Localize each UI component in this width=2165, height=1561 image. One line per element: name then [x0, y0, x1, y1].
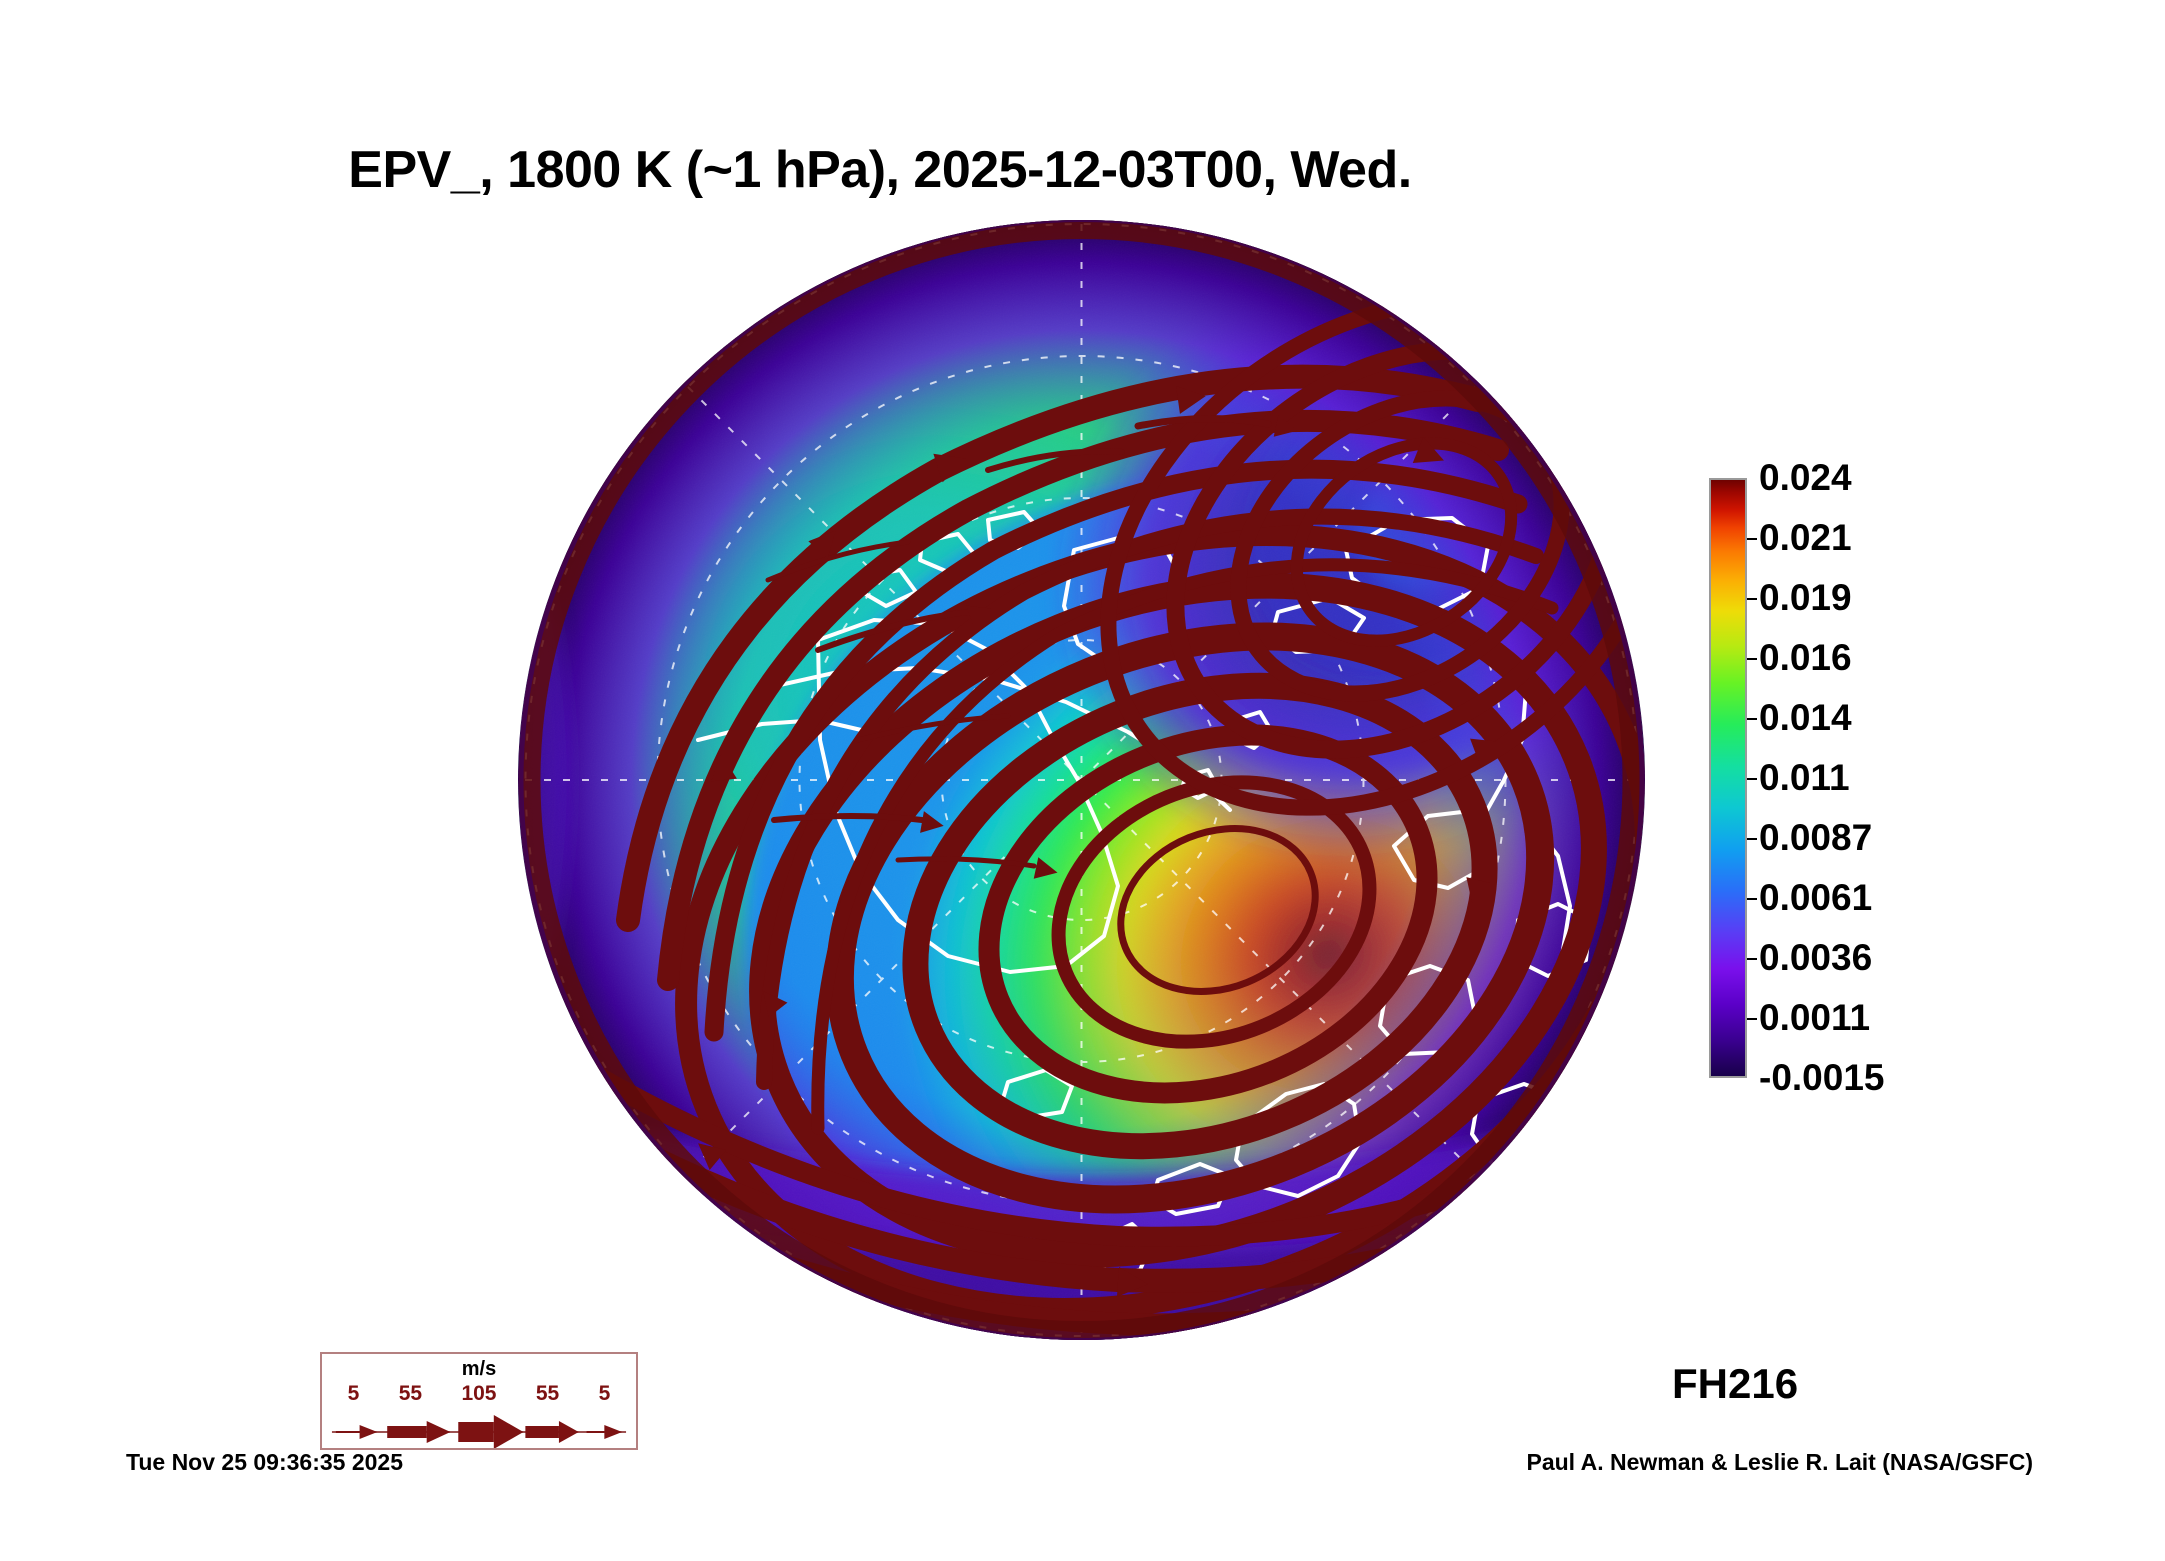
wind-legend-value: 105 — [461, 1382, 496, 1406]
colorbar-tick — [1747, 1018, 1757, 1020]
colorbar-tick-label: 0.014 — [1759, 697, 1852, 739]
wind-legend-value: 5 — [599, 1382, 611, 1406]
forecast-hour-label: FH216 — [1672, 1360, 1798, 1408]
wind-legend-value: 5 — [348, 1382, 360, 1406]
colorbar-tick — [1747, 958, 1757, 960]
colorbar-tick-label: 0.016 — [1759, 637, 1852, 679]
colorbar-tick — [1747, 718, 1757, 720]
wind-arrow-svg — [328, 1412, 630, 1448]
wind-legend-values: 555105555 — [322, 1382, 636, 1406]
wind-legend-value: 55 — [536, 1382, 559, 1406]
colorbar-tick — [1747, 658, 1757, 660]
colorbar-tick-label: -0.0015 — [1759, 1057, 1885, 1099]
colorbar-tick-label: 0.0087 — [1759, 817, 1872, 859]
colorbar-tick — [1747, 898, 1757, 900]
wind-legend-arrows — [328, 1412, 630, 1448]
colorbar-tick-label: 0.021 — [1759, 517, 1852, 559]
colorbar: 0.0240.0210.0190.0160.0140.0110.00870.00… — [1709, 478, 1747, 1078]
colorbar-labels: 0.0240.0210.0190.0160.0140.0110.00870.00… — [1759, 478, 2089, 1078]
colorbar-tick-label: 0.024 — [1759, 457, 1852, 499]
page-title: EPV_, 1800 K (~1 hPa), 2025-12-03T00, We… — [0, 140, 1760, 200]
wind-legend-value: 55 — [399, 1382, 422, 1406]
wind-legend-units: m/s — [322, 1358, 636, 1381]
colorbar-tick-label: 0.0011 — [1759, 997, 1870, 1039]
wind-speed-legend: m/s 555105555 — [320, 1352, 638, 1450]
colorbar-tick-label: 0.019 — [1759, 577, 1852, 619]
colorbar-tick — [1747, 838, 1757, 840]
colorbar-tick-label: 0.011 — [1759, 757, 1850, 799]
colorbar-tick — [1747, 538, 1757, 540]
colorbar-tick-label: 0.0036 — [1759, 937, 1872, 979]
colorbar-tick — [1747, 598, 1757, 600]
colorbar-tick-label: 0.0061 — [1759, 877, 1872, 919]
author-credit: Paul A. Newman & Leslie R. Lait (NASA/GS… — [1526, 1449, 2033, 1476]
polar-map — [518, 220, 1645, 1340]
map-svg — [518, 220, 1645, 1340]
colorbar-ticks — [1709, 478, 1747, 1078]
map-disk — [518, 220, 1645, 1340]
generated-timestamp: Tue Nov 25 09:36:35 2025 — [126, 1449, 403, 1476]
colorbar-tick — [1747, 778, 1757, 780]
